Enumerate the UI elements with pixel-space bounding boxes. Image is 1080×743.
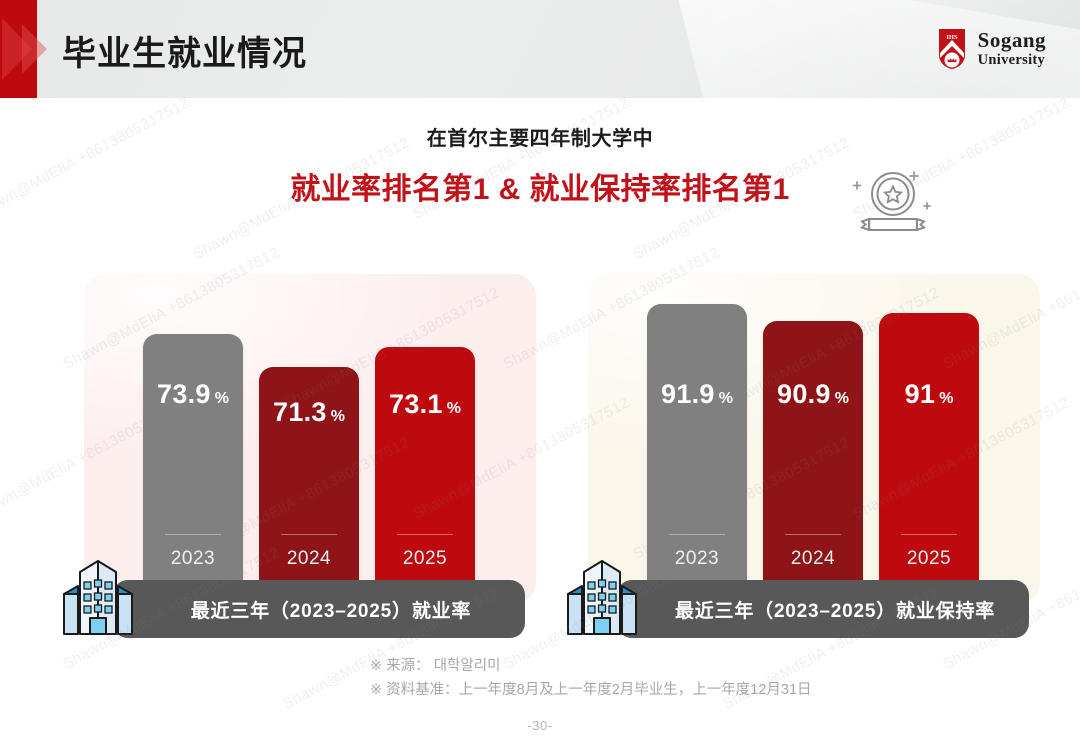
svg-text:IHS: IHS [946, 34, 958, 41]
bar-2023[interactable]: 73.9% 2023 [143, 334, 243, 604]
building-icon [56, 558, 140, 638]
headline-subtitle: 在首尔主要四年制大学中 [0, 122, 1080, 151]
bar-separator [281, 534, 337, 535]
bar-year-2025: 2025 [879, 548, 979, 570]
slide-root: 毕业生就业情况 IHS Sogang University 在首尔主要四年制大学… [0, 0, 1080, 743]
bar-separator [901, 534, 957, 535]
bar-2024[interactable]: 71.3% 2024 [259, 367, 359, 604]
logo-name: Sogang [978, 30, 1046, 51]
bar-separator [785, 534, 841, 535]
bar-year-2024: 2024 [259, 548, 359, 570]
bar-value-2024: 90.9% [763, 379, 863, 410]
chart-label-bar-employment-rate: 最近三年（2023–2025）就业率 [113, 580, 525, 638]
slide-header: 毕业生就业情况 IHS Sogang University [0, 0, 1080, 98]
footnote-basis: ※ 资料基准：上一年度8月及上一年度2月毕业生，上一年度12月31日 [370, 679, 1010, 703]
bar-2025[interactable]: 91% 2025 [879, 313, 979, 604]
medal-ribbon-icon [845, 163, 941, 239]
logo-subname: University [978, 53, 1046, 68]
bar-2025[interactable]: 73.1% 2025 [375, 347, 475, 604]
bar-year-2025: 2025 [375, 548, 475, 570]
bar-value-2023: 91.9% [647, 379, 747, 410]
sogang-logo: IHS Sogang University [935, 27, 1046, 71]
sogang-shield-icon: IHS [935, 27, 969, 71]
logo-text: Sogang University [978, 30, 1046, 68]
bar-group-left: 73.9% 2023 71.3% 2024 73.1% 2025 [84, 274, 536, 604]
page-number: -30- [0, 718, 1080, 733]
bar-year-2024: 2024 [763, 548, 863, 570]
bar-value-2023: 73.9% [143, 379, 243, 410]
footnote-source: ※ 来源： 대학알리미 [370, 655, 1010, 679]
bar-separator [669, 534, 725, 535]
bar-value-2024: 71.3% [259, 397, 359, 428]
chart-label-bar-retention-rate: 最近三年（2023–2025）就业保持率 [617, 580, 1029, 638]
bar-year-2023: 2023 [143, 548, 243, 570]
header-accent-block [0, 0, 37, 98]
chart-card-employment-rate: 73.9% 2023 71.3% 2024 73.1% 2025 [84, 274, 536, 604]
bar-year-2023: 2023 [647, 548, 747, 570]
bar-2023[interactable]: 91.9% 2023 [647, 304, 747, 604]
chart-card-retention-rate: 91.9% 2023 90.9% 2024 91% 2025 [588, 274, 1040, 604]
bar-value-2025: 91% [879, 379, 979, 410]
bar-separator [397, 534, 453, 535]
page-title: 毕业生就业情况 [62, 26, 307, 75]
chart-label-text: 最近三年（2023–2025）就业保持率 [617, 596, 1029, 623]
chart-label-text: 最近三年（2023–2025）就业率 [113, 596, 525, 623]
bar-2024[interactable]: 90.9% 2024 [763, 321, 863, 604]
footnotes: ※ 来源： 대학알리미 ※ 资料基准：上一年度8月及上一年度2月毕业生，上一年度… [370, 655, 1010, 703]
bar-separator [165, 534, 221, 535]
bar-group-right: 91.9% 2023 90.9% 2024 91% 2025 [588, 274, 1040, 604]
bar-value-2025: 73.1% [375, 389, 475, 420]
building-icon [560, 558, 644, 638]
